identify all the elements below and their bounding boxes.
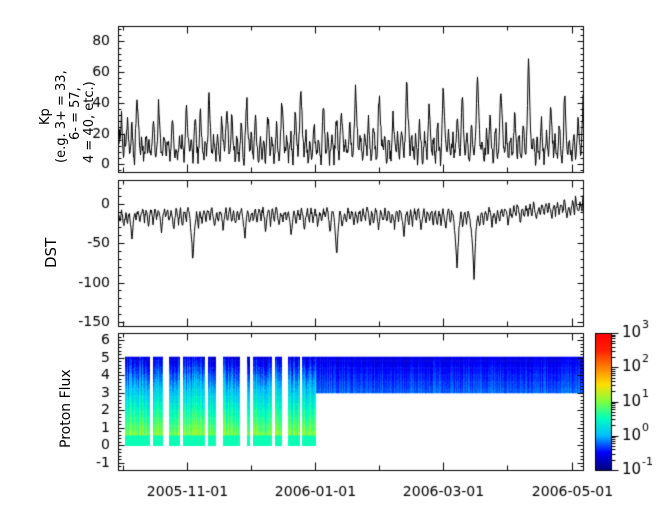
plot-canvas xyxy=(0,0,665,523)
figure-root: Kp (e.g. 3+ = 33, 6- = 57, 4 = 40, etc.)… xyxy=(0,0,665,523)
